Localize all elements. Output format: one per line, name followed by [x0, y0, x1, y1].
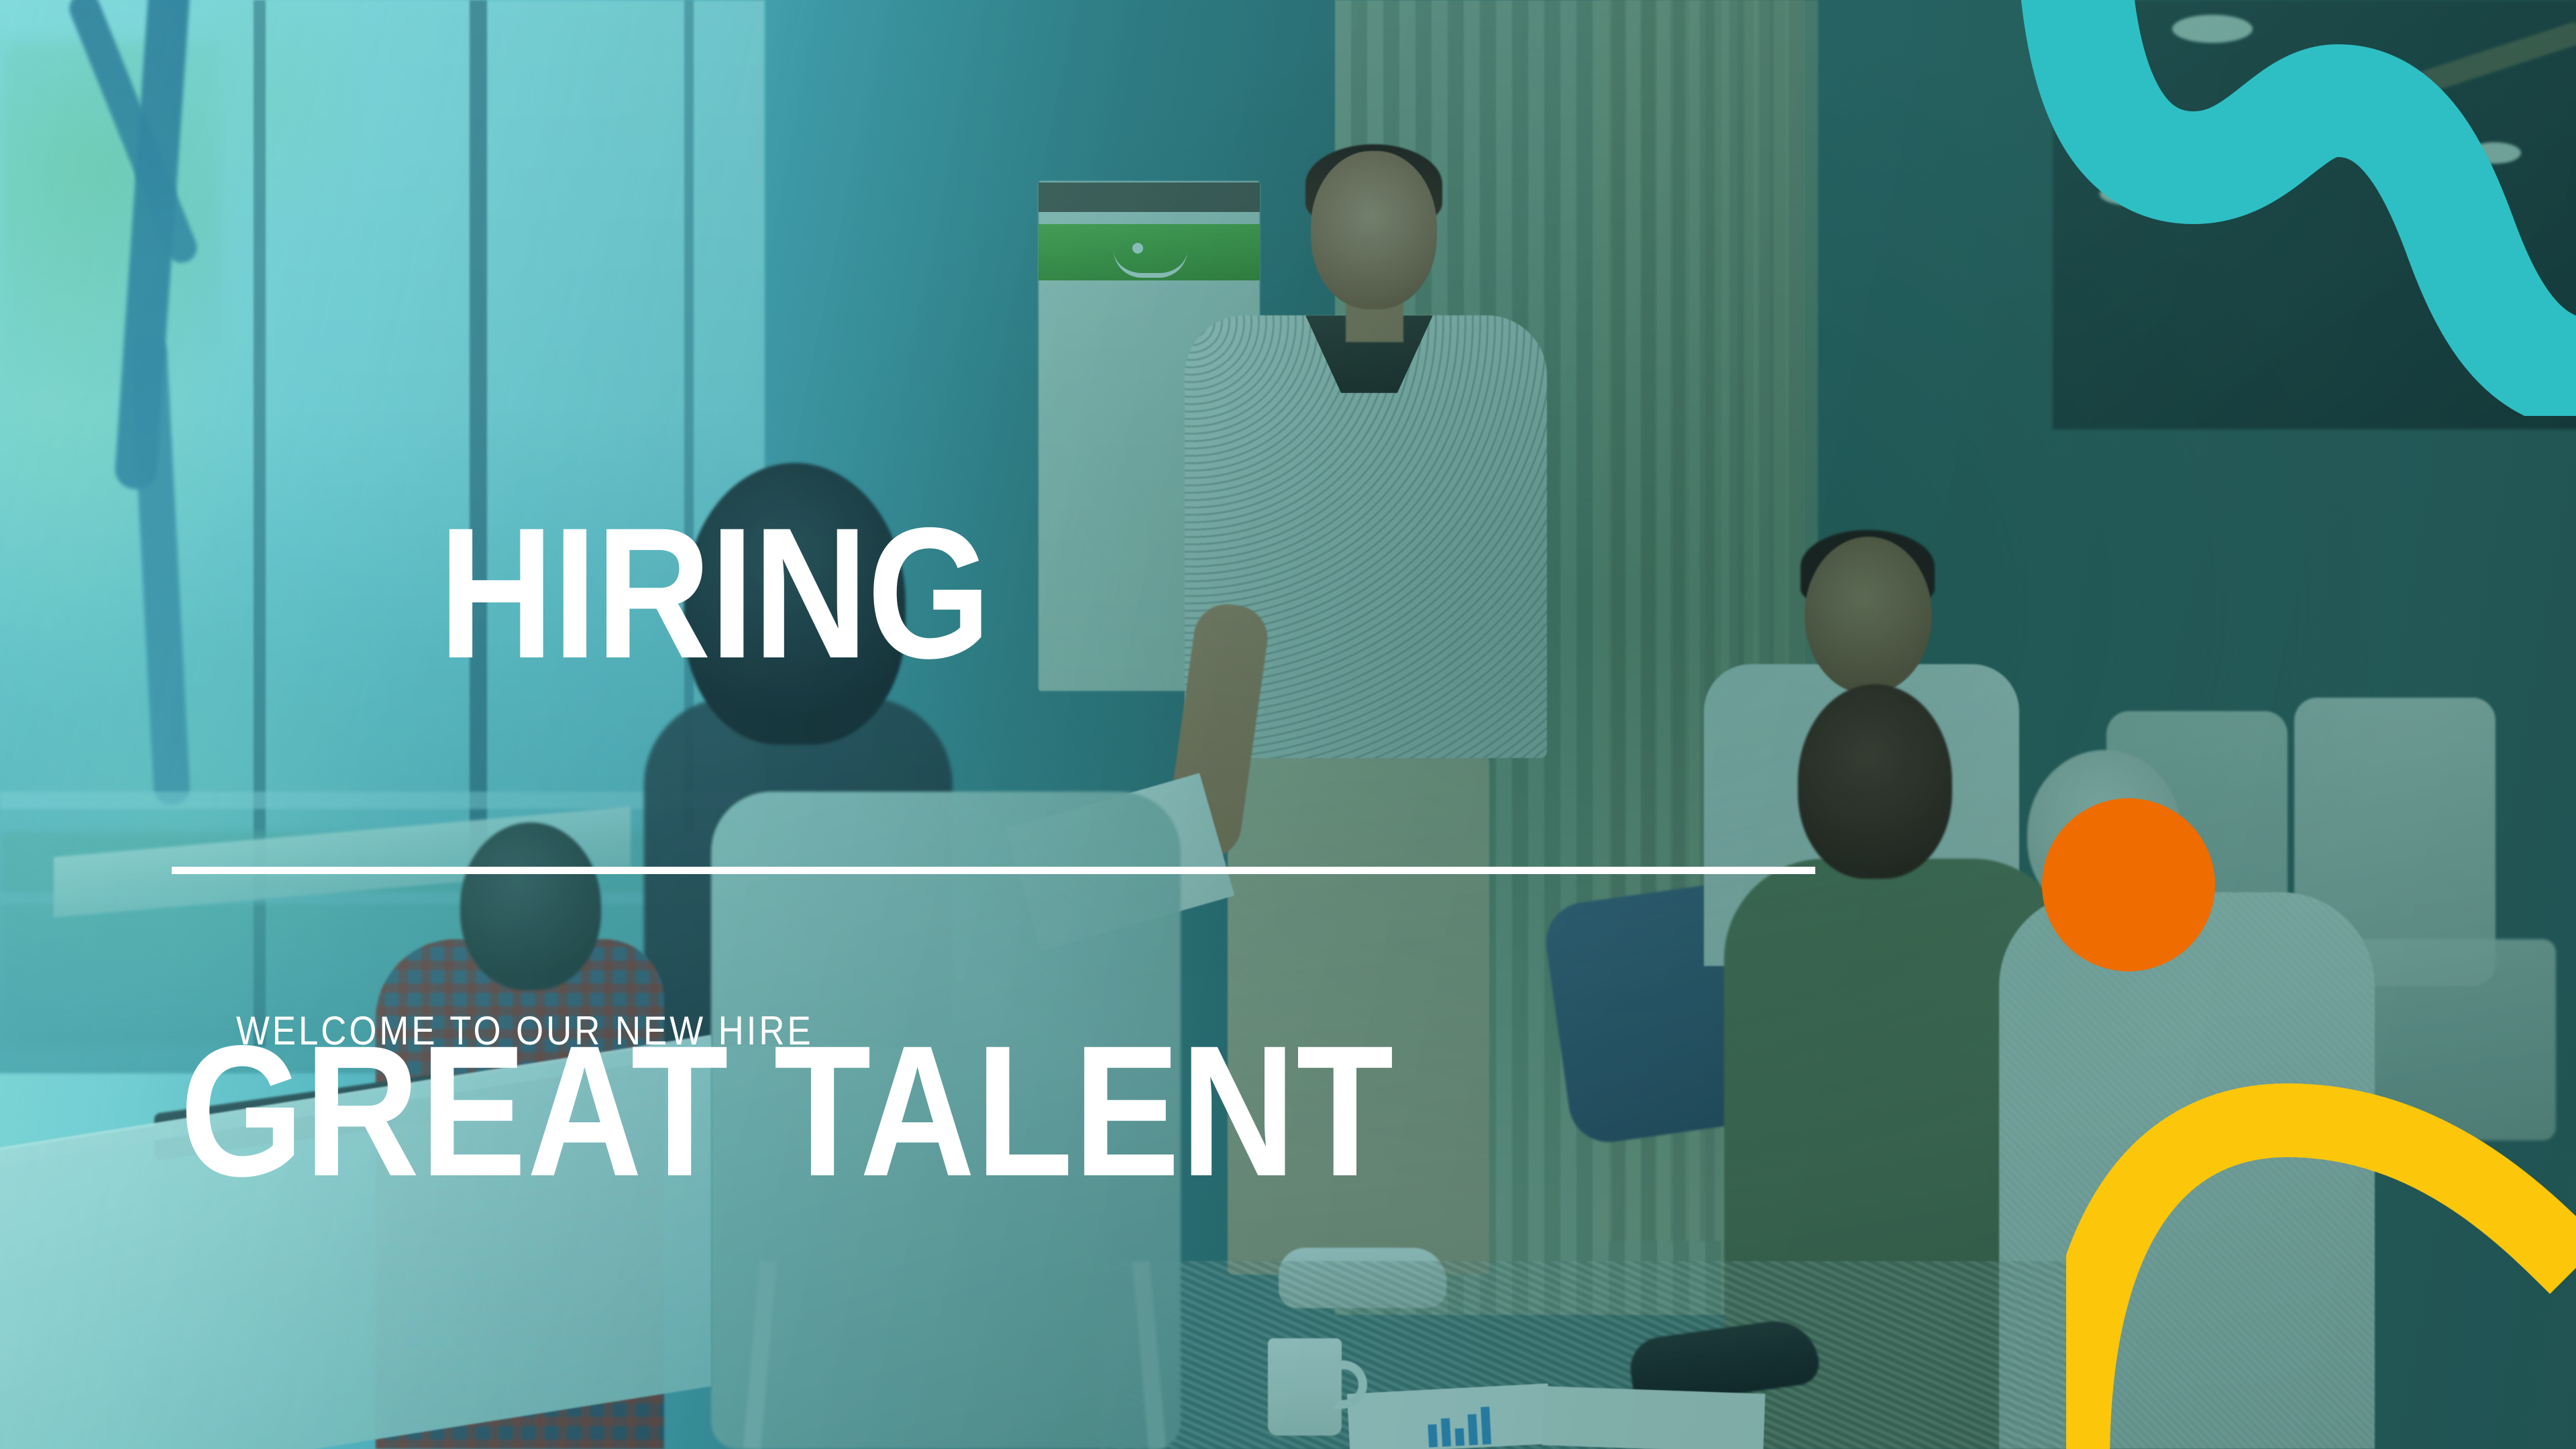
page-title: HIRING GREAT TALENT — [180, 334, 1394, 1449]
subheadline: WELCOME TO OUR NEW HIRE — [236, 1008, 814, 1054]
poster-content: HIRING GREAT TALENT WELCOME TO OUR NEW H… — [0, 0, 2576, 1449]
divider-rule — [172, 867, 1815, 874]
poster-canvas: HIRING GREAT TALENT WELCOME TO OUR NEW H… — [0, 0, 2576, 1449]
headline-line-1: HIRING — [439, 488, 990, 697]
